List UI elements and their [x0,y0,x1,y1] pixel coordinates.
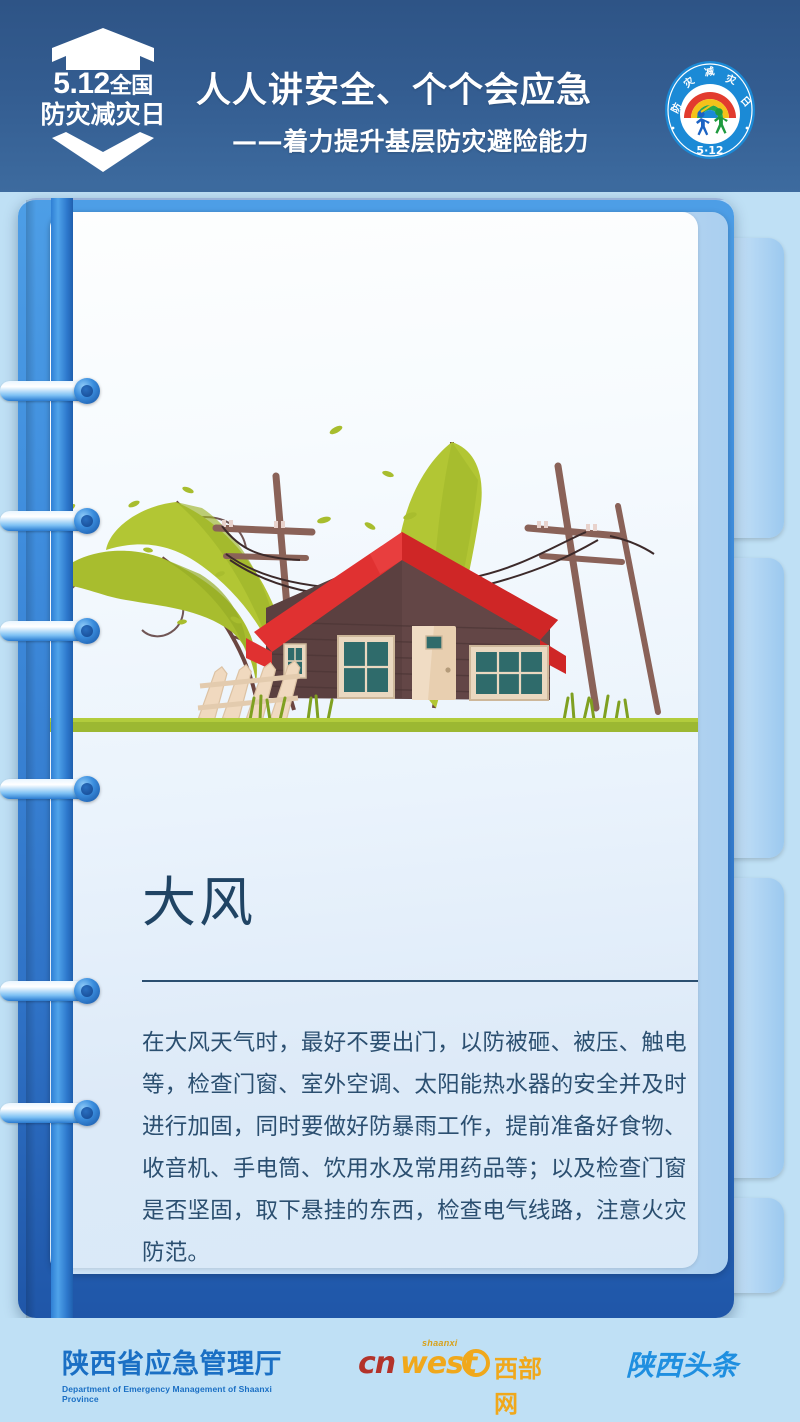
ring-cap [74,508,100,534]
banner-title-block: 人人讲安全、个个会应急 ——着力提升基层防灾避险能力 [196,62,592,158]
shield-line1: 5.12全国 [28,68,178,100]
binder-ring-5 [0,978,106,1004]
emergency-dept-en-name: Department of Emergency Management of Sh… [62,1384,290,1404]
ring-cap [74,1100,100,1126]
disaster-reduction-day-badge: 5·12 防 灾 减 灾 日 [660,58,760,162]
badge-icon: 5·12 防 灾 减 灾 日 [660,58,760,162]
shield-text-block: 5.12全国 防灾减灾日 [28,68,178,129]
ring-cap [74,978,100,1004]
footer-logo-row: 陕西省应急管理厅 Department of Emergency Managem… [0,1342,800,1404]
strong-wind-illustration [50,408,698,738]
footer-bar: 陕西省应急管理厅 Department of Emergency Managem… [0,1318,800,1422]
page-title: 大风 [142,858,256,937]
notebook-page: 大风 在大风天气时，最好不要出门，以防被砸、被压、触电等，检查门窗、室外空调、太… [50,212,698,1268]
page-body-text: 在大风天气时，最好不要出门，以防被砸、被压、触电等，检查门窗、室外空调、太阳能热… [142,1022,698,1268]
ring-cap [74,776,100,802]
binder-ring-1 [0,378,106,404]
cnwest-zh-text: 西部网 [494,1349,558,1419]
utility-pole-far-right [618,506,658,712]
cover-spine-shade [26,200,36,1320]
disaster-prevention-day-shield-logo: 5.12全国 防灾减灾日 [28,26,178,174]
cnwest-ring-icon [462,1349,490,1377]
top-banner: 5.12全国 防灾减灾日 人人讲安全、个个会应急 ——着力提升基层防灾避险能力 [0,0,800,192]
binder-ring-6 [0,1100,106,1126]
title-divider [142,980,698,982]
cnwest-cn-text: cn [358,1346,395,1381]
notebook-card: 大风 在大风天气时，最好不要出门，以防被砸、被压、触电等，检查门窗、室外空调、太… [18,198,782,1318]
binder-ring-3 [0,618,106,644]
banner-title-main: 人人讲安全、个个会应急 [196,62,592,113]
logo-emergency-department: 陕西省应急管理厅 Department of Emergency Managem… [62,1342,290,1404]
notebook-spine [51,198,73,1318]
ring-cap [74,618,100,644]
binder-ring-4 [0,776,106,802]
binder-ring-2 [0,508,106,534]
banner-title-sub: ——着力提升基层防灾避险能力 [196,122,592,158]
emergency-dept-cn-name: 陕西省应急管理厅 [62,1342,290,1381]
ring-cap [74,378,100,404]
badge-date-text: 5·12 [696,144,723,157]
logo-cnwest: shaanxi cn west 西部网 [358,1342,558,1388]
shield-line2: 防灾减灾日 [28,102,178,129]
logo-shaanxi-toutiao: 陕西头条 [626,1344,738,1384]
